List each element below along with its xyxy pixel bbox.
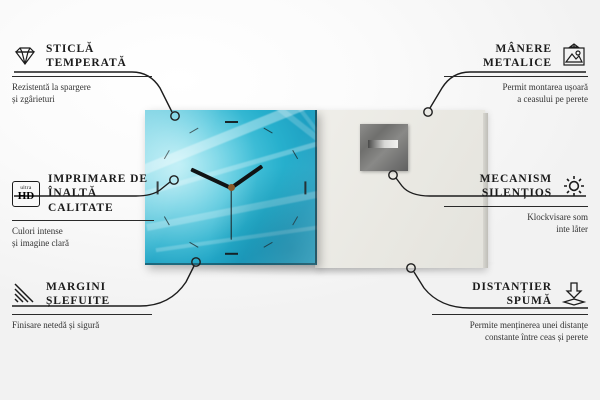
callout-divider — [12, 76, 152, 77]
callout-subtitle: Culori intense și imagine clară — [12, 225, 154, 249]
callout-divider — [12, 220, 154, 221]
callout-subtitle: Finisare netedă și sigură — [12, 319, 152, 331]
callout-silent-mechanism[interactable]: MECANISM SILENȚIOS Klockvisare som inte … — [444, 172, 588, 235]
callout-polished-edges[interactable]: MARGINI ȘLEFUITE Finisare netedă și sigu… — [12, 280, 152, 331]
callout-subtitle: Klockvisare som inte låter — [444, 211, 588, 235]
ultra-hd-icon-main-label: HD — [18, 191, 35, 202]
callout-header: MARGINI ȘLEFUITE — [12, 280, 152, 309]
clock-front-glass — [145, 110, 317, 265]
foam-spacer-icon — [560, 281, 588, 307]
glass-rim — [145, 110, 317, 265]
picture-hanger-icon — [560, 43, 588, 69]
callout-header: MÂNERE METALICE — [444, 42, 588, 71]
callout-foam-spacer[interactable]: DISTANȚIER SPUMĂ Permite menținerea unei… — [432, 280, 588, 343]
callout-header: MECANISM SILENȚIOS — [444, 172, 588, 201]
callout-title: MECANISM SILENȚIOS — [480, 172, 552, 201]
callout-header: ultra HD IMPRIMARE DE ÎNALTĂ CALITATE — [12, 172, 154, 215]
diamond-icon — [12, 45, 38, 67]
callout-divider — [12, 314, 152, 315]
callout-divider — [432, 314, 588, 315]
infographic-canvas: STICLĂ TEMPERATĂ Rezistentă la spargere … — [0, 0, 600, 400]
callout-subtitle: Permite menținerea unei distanțe constan… — [432, 319, 588, 343]
callout-title: STICLĂ TEMPERATĂ — [46, 42, 127, 71]
callout-header: STICLĂ TEMPERATĂ — [12, 42, 152, 71]
callout-header: DISTANȚIER SPUMĂ — [432, 280, 588, 309]
callout-title: IMPRIMARE DE ÎNALTĂ CALITATE — [48, 172, 154, 215]
metal-hanger-part — [360, 124, 408, 171]
callout-divider — [444, 206, 588, 207]
callout-high-quality-print[interactable]: ultra HD IMPRIMARE DE ÎNALTĂ CALITATE Cu… — [12, 172, 154, 249]
callout-divider — [444, 76, 588, 77]
hanger-slot — [368, 140, 398, 148]
beveled-edge-icon — [12, 282, 38, 306]
ultra-hd-icon: ultra HD — [12, 181, 40, 207]
callout-subtitle: Rezistentă la spargere și zgârieturi — [12, 81, 152, 105]
callout-title: MÂNERE METALICE — [483, 42, 552, 71]
callout-title: MARGINI ȘLEFUITE — [46, 280, 110, 309]
callout-metal-handles[interactable]: MÂNERE METALICE Permit montarea ușoară a… — [444, 42, 588, 105]
product-image — [145, 110, 485, 268]
callout-tempered-glass[interactable]: STICLĂ TEMPERATĂ Rezistentă la spargere … — [12, 42, 152, 105]
gear-icon — [560, 173, 588, 199]
callout-subtitle: Permit montarea ușoară a ceasului pe per… — [444, 81, 588, 105]
callout-title: DISTANȚIER SPUMĂ — [472, 280, 552, 309]
